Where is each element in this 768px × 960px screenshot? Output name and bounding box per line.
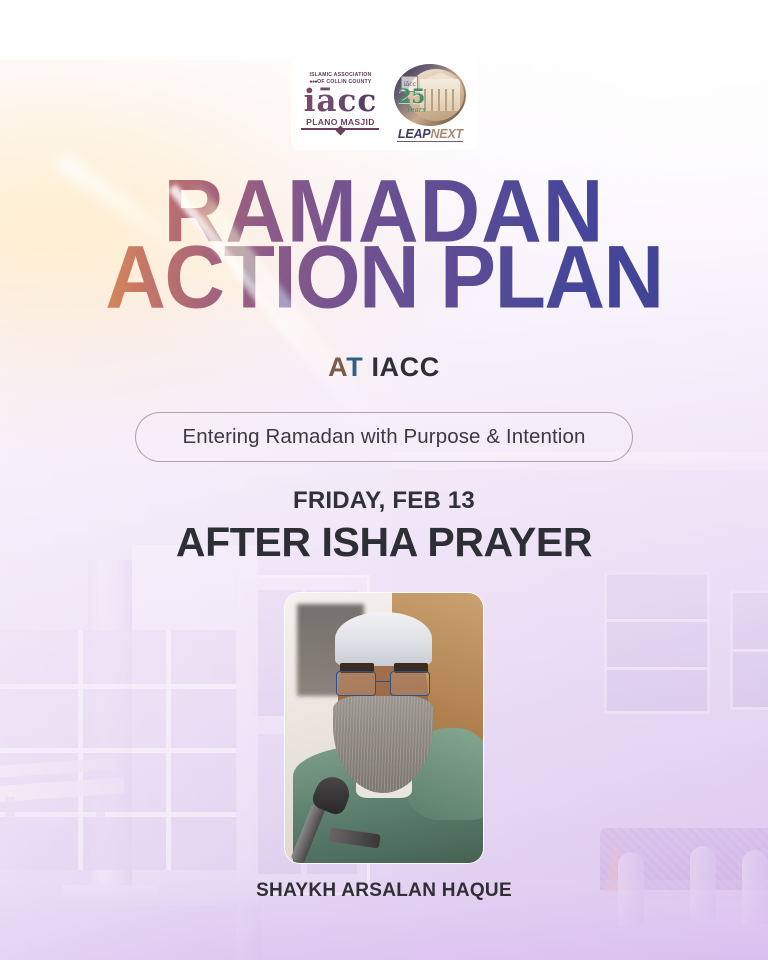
iacc-logo: ISLAMIC ASSOCIATION ●●●OF COLLIN COUNTY … [299,72,382,133]
logo-card: ISLAMIC ASSOCIATION ●●●OF COLLIN COUNTY … [291,56,477,150]
anniversary-word: Years [406,106,425,114]
leapnext-crescent-badge: iācc 25 Years [394,64,466,126]
event-time: AFTER ISHA PRAYER [0,519,768,566]
event-date: FRIDAY, FEB 13 [0,487,768,515]
tagline-text: Entering Ramadan with Purpose & Intentio… [183,425,586,449]
venue-label-a: A [328,352,346,382]
venue-label-t: T [346,352,363,382]
glasses-lens-right [390,671,429,695]
anniversary-number: 25 [397,86,425,106]
iacc-org-line-1: ISLAMIC ASSOCIATION [309,72,371,79]
leapnext-underline [397,141,463,142]
leapnext-name-part-2: NEXT [430,127,463,141]
title-line-action-plan: ACTION PLAN [0,240,768,316]
speaker-kufi-cap [335,612,432,666]
glasses-bridge [376,681,391,683]
speaker-photo [284,592,484,864]
masjid-columns-icon [424,89,456,111]
leapnext-name-part-1: LEAP [398,127,431,141]
speaker-name: SHAYKH ARSALAN HAQUE [0,880,768,902]
event-title: RAMADAN ACTION PLAN [0,176,768,314]
event-flyer: ISLAMIC ASSOCIATION ●●●OF COLLIN COUNTY … [0,0,768,960]
venue-label: AT IACC [0,352,768,383]
leapnext-logo: iācc 25 Years LEAPNEXT [392,64,469,143]
glasses-lens-left [336,671,375,695]
speaker-glasses-icon [336,671,429,695]
venue-label-name: IACC [363,352,440,382]
leapnext-wordmark: LEAPNEXT [398,128,463,141]
iacc-wordmark: iācc [304,87,378,116]
tagline-pill: Entering Ramadan with Purpose & Intentio… [135,412,633,462]
